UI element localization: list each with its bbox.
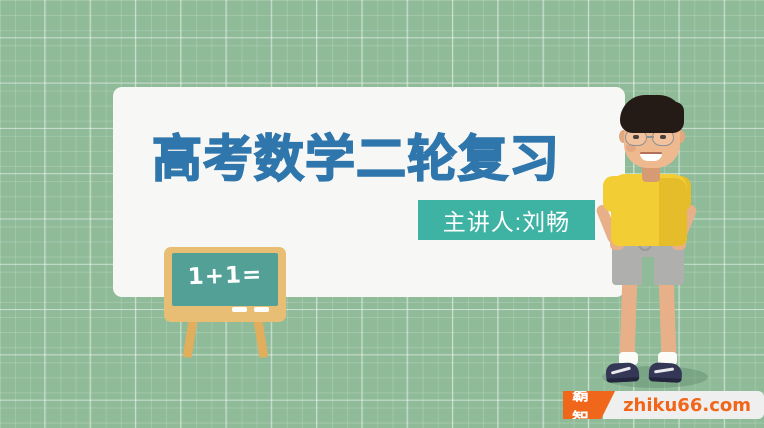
chalk-piece-icon <box>254 307 269 312</box>
character-illustration <box>588 82 722 402</box>
shoe-stripe <box>611 367 631 375</box>
chalkboard-equation: 1+1= <box>172 261 279 291</box>
glasses-bridge <box>646 136 654 138</box>
character-shirt <box>611 174 687 246</box>
slide-canvas: 高考数学二轮复习 主讲人:刘畅 1+1= <box>0 0 764 428</box>
chalk-piece-icon <box>232 307 247 312</box>
watermark: 学霸智库 zhiku66.com <box>563 391 764 419</box>
page-title: 高考数学二轮复习 <box>152 131 602 187</box>
chalkboard-frame: 1+1= <box>164 247 286 322</box>
character-mouth <box>640 152 662 161</box>
chalkboard-illustration: 1+1= <box>164 247 286 357</box>
character-leg-right <box>658 272 676 362</box>
shoe-stripe <box>654 367 674 373</box>
presenter-badge: 主讲人:刘畅 <box>418 200 595 240</box>
character-leg-left <box>619 272 637 362</box>
watermark-site-url: zhiku66.com <box>603 391 764 419</box>
character-shoe-right <box>649 362 683 383</box>
character-hair-tuft <box>621 106 632 126</box>
shirt-shading <box>659 178 687 246</box>
presenter-badge-label: 主讲人:刘畅 <box>443 203 570 237</box>
character-hair-tuft <box>670 102 684 128</box>
character-shoe-left <box>606 362 640 383</box>
shorts-notch <box>642 257 654 285</box>
chalkboard-surface: 1+1= <box>172 253 278 306</box>
